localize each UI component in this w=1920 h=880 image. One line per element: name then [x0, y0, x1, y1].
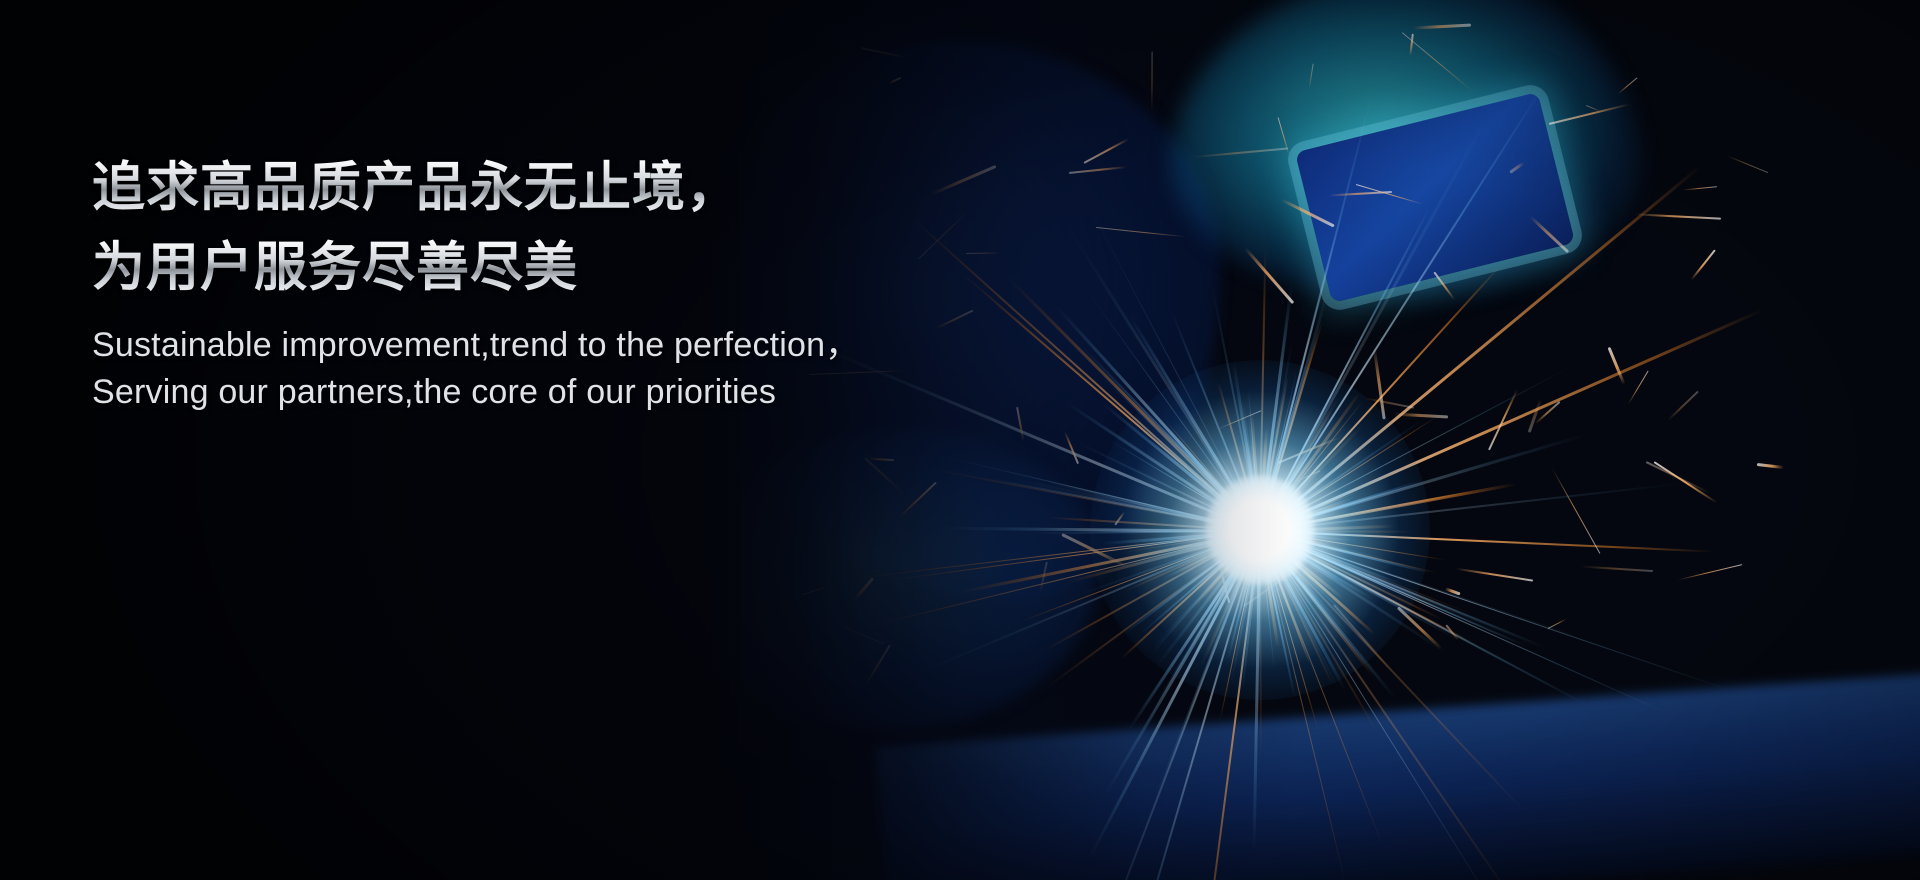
stray-spark	[1152, 51, 1153, 110]
stray-spark	[1582, 565, 1654, 572]
stray-spark	[1083, 138, 1129, 164]
stray-spark	[1064, 431, 1079, 464]
stray-spark	[1607, 347, 1625, 385]
welding-photo	[740, 0, 1920, 880]
subtitle-line-1: Sustainable improvement,trend to the per…	[92, 322, 1032, 369]
stray-spark	[1585, 105, 1600, 112]
stray-spark	[1096, 227, 1187, 238]
stray-spark	[1727, 156, 1768, 174]
stray-spark	[1394, 413, 1448, 418]
stray-spark	[1280, 198, 1334, 227]
stray-spark	[1069, 166, 1127, 174]
stray-spark	[865, 457, 904, 493]
stray-spark	[888, 77, 901, 84]
hero-text-block: 追求高品质产品永无止境， 为用户服务尽善尽美 Sustainable impro…	[92, 148, 1032, 416]
arc-flash-core	[1205, 475, 1315, 585]
stray-spark	[1509, 161, 1525, 173]
stray-spark	[865, 644, 891, 685]
stray-spark	[1635, 214, 1721, 220]
stray-spark	[824, 618, 884, 644]
stray-spark	[1309, 64, 1314, 89]
stray-spark	[1433, 272, 1455, 301]
stray-spark	[803, 586, 829, 595]
subtitle-line-2: Serving our partners,the core of our pri…	[92, 369, 1032, 416]
stray-spark	[853, 577, 874, 601]
stray-spark	[1551, 467, 1600, 554]
stray-spark	[1757, 463, 1784, 469]
stray-spark	[897, 481, 937, 519]
stray-spark	[1683, 186, 1717, 190]
stray-spark	[1528, 399, 1542, 433]
stray-spark	[1410, 34, 1414, 56]
stray-spark	[1530, 216, 1569, 253]
stray-spark	[1627, 370, 1648, 404]
stray-spark	[1414, 24, 1472, 30]
headline-line-2: 为用户服务尽善尽美	[92, 228, 1032, 308]
stray-spark	[861, 47, 907, 58]
stray-spark	[1645, 461, 1709, 494]
hero-banner: 追求高品质产品永无止境， 为用户服务尽善尽美 Sustainable impro…	[0, 0, 1920, 880]
headline-line-1: 追求高品质产品永无止境，	[92, 148, 1032, 228]
stray-spark	[1618, 78, 1638, 95]
stray-spark	[1244, 248, 1294, 304]
stray-spark	[869, 457, 894, 461]
stray-spark	[1667, 391, 1699, 422]
stray-spark	[1678, 564, 1743, 580]
stray-spark	[1192, 147, 1287, 158]
stray-spark	[1690, 249, 1715, 280]
stray-spark	[1455, 568, 1533, 582]
